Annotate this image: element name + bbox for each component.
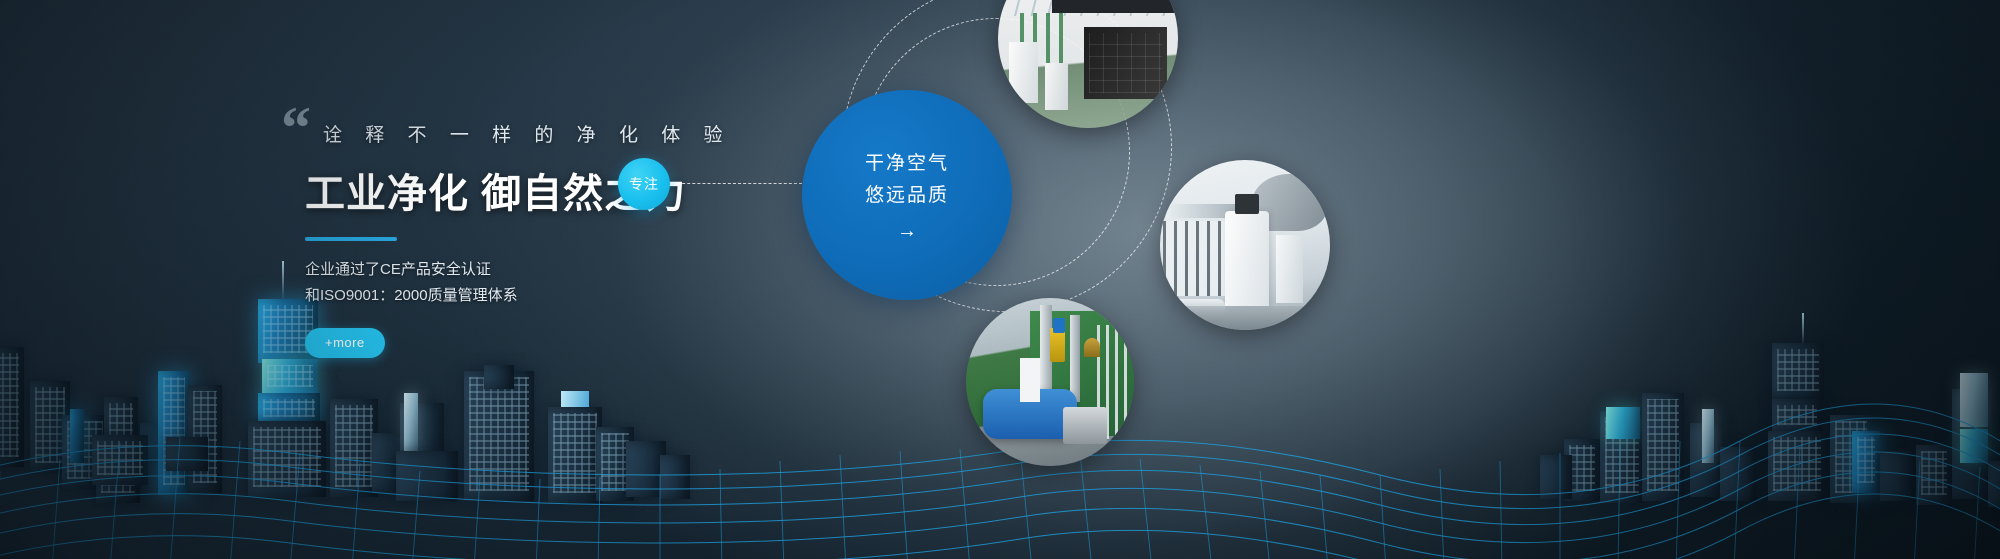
focus-badge-label: 专注 (629, 174, 659, 194)
photo-circle-machinery[interactable] (1160, 160, 1330, 330)
hero-body: 企业通过了CE产品安全认证 和ISO9001：2000质量管理体系 (305, 257, 725, 310)
hero-banner: “ 诠 释 不 一 样 的 净 化 体 验 工业净化 御自然之力 企业通过了CE… (0, 0, 2000, 559)
arrow-right-icon: → (897, 221, 917, 241)
more-button[interactable]: +more (305, 328, 385, 358)
dashed-connector-line (672, 183, 802, 184)
photo-circle-vessel[interactable] (966, 298, 1134, 466)
focus-badge[interactable]: 专注 (618, 158, 670, 210)
photo-circle-plant[interactable] (998, 0, 1178, 128)
hero-copy: “ 诠 释 不 一 样 的 净 化 体 验 工业净化 御自然之力 企业通过了CE… (305, 120, 725, 358)
quote-mark-icon: “ (281, 98, 311, 158)
core-line-1: 干净空气 (865, 150, 949, 179)
hero-body-line-2: 和ISO9001：2000质量管理体系 (305, 283, 725, 309)
core-circle[interactable]: 干净空气 悠远品质 → (802, 90, 1012, 300)
accent-rule (305, 237, 397, 241)
hero-body-line-1: 企业通过了CE产品安全认证 (305, 257, 725, 283)
hero-subtitle: 诠 释 不 一 样 的 净 化 体 验 (323, 120, 725, 147)
core-line-2: 悠远品质 (865, 182, 949, 211)
concept-diagram: 专注 干净空气 悠远品质 → (780, 0, 2000, 559)
